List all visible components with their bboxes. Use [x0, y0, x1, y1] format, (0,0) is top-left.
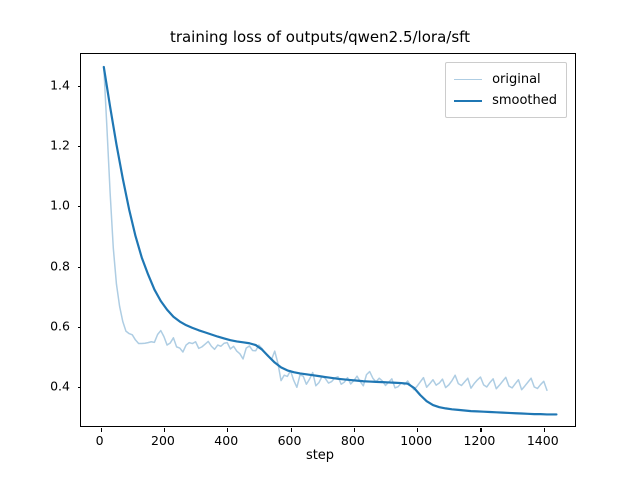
x-tick-mark — [291, 428, 292, 432]
chart-legend: original smoothed — [445, 62, 567, 118]
y-tick-label: 0.8 — [30, 258, 70, 273]
series-line-smoothed — [104, 67, 557, 414]
x-tick-label: 200 — [151, 433, 175, 448]
plot-area: original smoothed — [80, 53, 576, 427]
x-tick-mark — [227, 428, 228, 432]
x-tick-mark — [101, 428, 102, 432]
y-tick-mark — [78, 267, 82, 268]
x-axis-label: step — [0, 448, 640, 463]
x-tick-mark — [544, 428, 545, 432]
y-tick-label: 0.4 — [30, 379, 70, 394]
legend-swatch-original — [454, 79, 482, 80]
y-tick-label: 0.6 — [30, 318, 70, 333]
y-tick-mark — [78, 387, 82, 388]
legend-entry-original: original — [454, 69, 557, 90]
y-axis-label: loss — [0, 215, 3, 240]
x-tick-label: 800 — [341, 433, 365, 448]
x-tick-mark — [354, 428, 355, 432]
x-tick-label: 1000 — [400, 433, 432, 448]
legend-label-original: original — [492, 72, 541, 87]
chart-figure: training loss of outputs/qwen2.5/lora/sf… — [0, 0, 640, 480]
y-tick-mark — [78, 86, 82, 87]
x-tick-label: 1200 — [464, 433, 496, 448]
x-tick-label: 600 — [278, 433, 302, 448]
x-tick-label: 0 — [96, 433, 104, 448]
legend-entry-smoothed: smoothed — [454, 90, 557, 111]
x-tick-mark — [164, 428, 165, 432]
chart-title: training loss of outputs/qwen2.5/lora/sf… — [0, 28, 640, 46]
legend-swatch-smoothed — [454, 100, 482, 102]
x-tick-mark — [417, 428, 418, 432]
x-tick-label: 1400 — [527, 433, 559, 448]
y-tick-label: 1.2 — [30, 137, 70, 152]
y-tick-mark — [78, 146, 82, 147]
y-tick-mark — [78, 206, 82, 207]
legend-label-smoothed: smoothed — [492, 93, 557, 108]
y-tick-mark — [78, 327, 82, 328]
x-tick-mark — [480, 428, 481, 432]
x-tick-label: 400 — [214, 433, 238, 448]
y-tick-label: 1.0 — [30, 198, 70, 213]
y-tick-label: 1.4 — [30, 77, 70, 92]
